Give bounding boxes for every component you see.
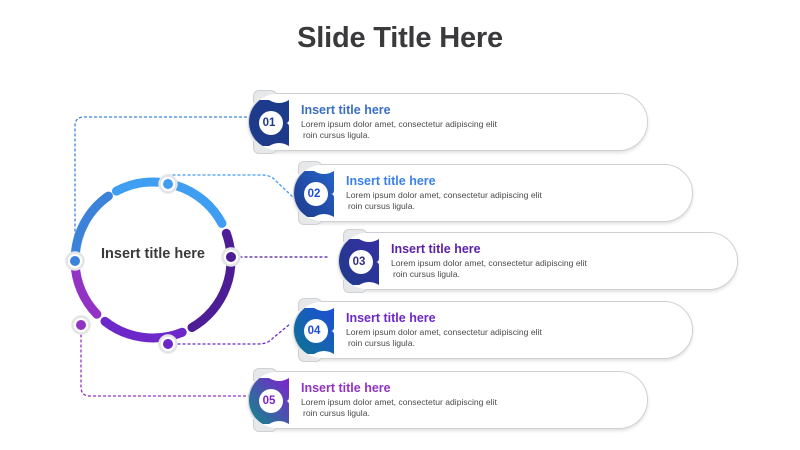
hub-center-label: Insert title here (48, 246, 258, 262)
hub-node-04 (163, 339, 173, 349)
card-text-04: Insert title here Lorem ipsum dolor amet… (346, 311, 678, 349)
info-card-02[interactable]: 02 Insert title here Lorem ipsum dolor a… (293, 164, 693, 222)
card-title-03: Insert title here (391, 242, 723, 256)
hub-arc-bottom-left (75, 263, 97, 315)
card-inner-04: 04 Insert title here Lorem ipsum dolor a… (294, 302, 692, 358)
card-inner-03: 03 Insert title here Lorem ipsum dolor a… (339, 233, 737, 289)
hub-circle: Insert title here (48, 158, 258, 363)
card-title-04: Insert title here (346, 311, 678, 325)
badge-05: 05 (249, 372, 293, 428)
slide-canvas: Slide Title Here (0, 0, 800, 450)
card-text-02: Insert title here Lorem ipsum dolor amet… (346, 174, 678, 212)
card-body-03: Lorem ipsum dolor amet, consectetur adip… (391, 258, 723, 280)
info-card-04[interactable]: 04 Insert title here Lorem ipsum dolor a… (293, 301, 693, 359)
badge-03: 03 (339, 233, 383, 289)
badge-02: 02 (294, 165, 338, 221)
card-inner-01: 01 Insert title here Lorem ipsum dolor a… (249, 94, 647, 150)
info-card-01[interactable]: 01 Insert title here Lorem ipsum dolor a… (248, 93, 648, 151)
badge-01: 01 (249, 94, 293, 150)
card-text-05: Insert title here Lorem ipsum dolor amet… (301, 381, 633, 419)
hub-node-02 (163, 179, 173, 189)
card-body-line2-01: roin cursus ligula. (301, 130, 633, 141)
card-body-line2-03: roin cursus ligula. (391, 269, 723, 280)
card-title-02: Insert title here (346, 174, 678, 188)
card-body-line2-05: roin cursus ligula. (301, 408, 633, 419)
card-title-05: Insert title here (301, 381, 633, 395)
card-inner-05: 05 Insert title here Lorem ipsum dolor a… (249, 372, 647, 428)
card-body-04: Lorem ipsum dolor amet, consectetur adip… (346, 327, 678, 349)
card-body-line1-01: Lorem ipsum dolor amet, consectetur adip… (301, 119, 497, 129)
card-body-line1-05: Lorem ipsum dolor amet, consectetur adip… (301, 397, 497, 407)
info-card-03[interactable]: 03 Insert title here Lorem ipsum dolor a… (338, 232, 738, 290)
card-body-05: Lorem ipsum dolor amet, consectetur adip… (301, 397, 633, 419)
card-text-03: Insert title here Lorem ipsum dolor amet… (391, 242, 723, 280)
card-body-line2-04: roin cursus ligula. (346, 338, 678, 349)
card-body-line2-02: roin cursus ligula. (346, 201, 678, 212)
card-body-line1-04: Lorem ipsum dolor amet, consectetur adip… (346, 327, 542, 337)
card-body-line1-02: Lorem ipsum dolor amet, consectetur adip… (346, 190, 542, 200)
card-body-01: Lorem ipsum dolor amet, consectetur adip… (301, 119, 633, 141)
badge-04: 04 (294, 302, 338, 358)
card-title-01: Insert title here (301, 103, 633, 117)
page-title: Slide Title Here (0, 22, 800, 55)
info-card-05[interactable]: 05 Insert title here Lorem ipsum dolor a… (248, 371, 648, 429)
card-body-02: Lorem ipsum dolor amet, consectetur adip… (346, 190, 678, 212)
card-text-01: Insert title here Lorem ipsum dolor amet… (301, 103, 633, 141)
card-body-line1-03: Lorem ipsum dolor amet, consectetur adip… (391, 258, 587, 268)
card-inner-02: 02 Insert title here Lorem ipsum dolor a… (294, 165, 692, 221)
hub-node-05 (76, 320, 86, 330)
